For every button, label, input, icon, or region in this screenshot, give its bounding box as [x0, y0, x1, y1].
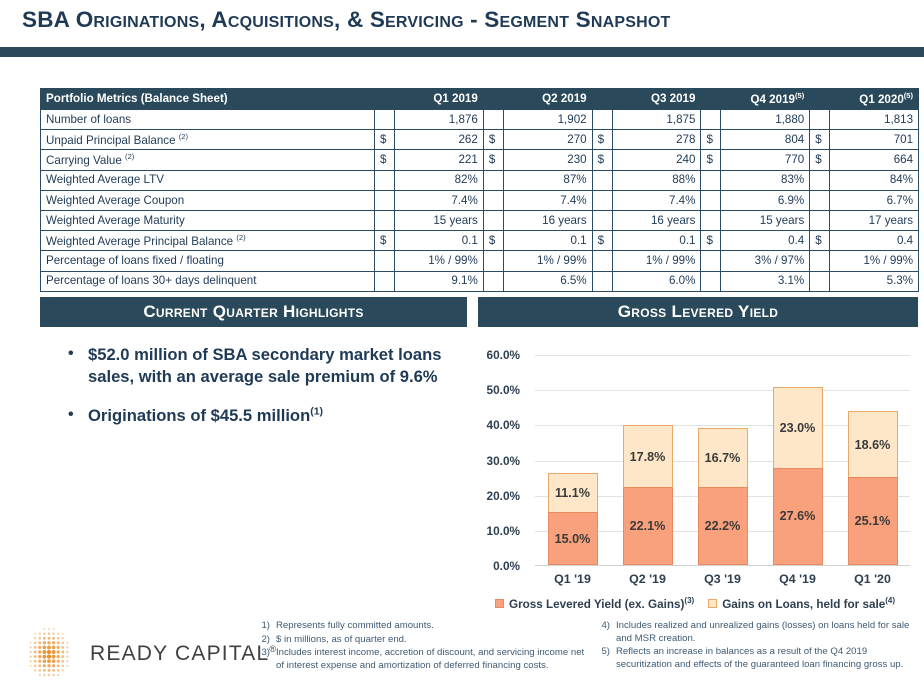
currency-symbol: $	[810, 231, 830, 251]
chart-plot-area: 0.0%10.0%20.0%30.0%40.0%50.0%60.0%15.0%1…	[535, 355, 910, 566]
footnotes-right: 4)Includes realized and unrealized gains…	[598, 620, 922, 673]
row-label: Unpaid Principal Balance (2)	[41, 130, 375, 150]
chart-bar-segment: 22.2%	[698, 487, 748, 565]
table-cell: 1,876	[395, 110, 484, 130]
table-row: Percentage of loans 30+ days delinquent9…	[41, 271, 919, 291]
currency-symbol	[375, 190, 395, 210]
table-cell: 7.4%	[503, 190, 592, 210]
chart-bar-1: 15.0%11.1%	[548, 473, 598, 565]
page-title: SBA Originations, Acquisitions, & Servic…	[22, 7, 670, 33]
currency-symbol	[810, 210, 830, 230]
chart-bar-2: 22.1%17.8%	[623, 425, 673, 565]
table-cell: 262	[395, 130, 484, 150]
footnote-2: 2)$ in millions, as of quarter end.	[258, 634, 588, 647]
currency-symbol: $	[375, 231, 395, 251]
table-cell: 82%	[395, 170, 484, 190]
ready-capital-logo: READY CAPITAL®	[18, 625, 277, 683]
chart-y-tick-label: 60.0%	[460, 348, 520, 362]
currency-symbol	[483, 251, 503, 271]
table-cell: 88%	[612, 170, 701, 190]
table-cell: 1% / 99%	[395, 251, 484, 271]
row-label: Weighted Average Maturity	[41, 210, 375, 230]
table-cell: 5.3%	[830, 271, 919, 291]
row-label: Weighted Average LTV	[41, 170, 375, 190]
chart-x-tick-label: Q1 '20	[833, 572, 913, 586]
highlight-bullet-1: $52.0 million of SBA secondary market lo…	[62, 344, 462, 388]
table-cell: 6.0%	[612, 271, 701, 291]
currency-symbol: $	[483, 130, 503, 150]
row-label: Carrying Value (2)	[41, 150, 375, 170]
table-cell: 1,880	[721, 110, 810, 130]
footnote-text: $ in millions, as of quarter end.	[276, 634, 588, 647]
currency-symbol	[701, 110, 721, 130]
currency-symbol: $	[592, 130, 612, 150]
table-row: Unpaid Principal Balance (2)$262$270$278…	[41, 130, 919, 150]
legend-label: Gross Levered Yield (ex. Gains)(3)	[509, 596, 694, 611]
chart-y-tick-label: 10.0%	[460, 524, 520, 538]
chart-legend: Gross Levered Yield (ex. Gains)(3)Gains …	[470, 596, 920, 611]
table-cell: 3% / 97%	[721, 251, 810, 271]
chart-bar-segment: 27.6%	[773, 468, 823, 565]
currency-symbol: $	[592, 231, 612, 251]
currency-symbol	[592, 251, 612, 271]
chart-y-tick-label: 50.0%	[460, 383, 520, 397]
currency-symbol	[810, 110, 830, 130]
table-row: Number of loans1,8761,9021,8751,8801,813	[41, 110, 919, 130]
chart-x-tick-label: Q4 '19	[758, 572, 838, 586]
table-cell: 1,875	[612, 110, 701, 130]
chart-bar-5: 25.1%18.6%	[848, 411, 898, 565]
footnote-1: 1)Represents fully committed amounts.	[258, 620, 588, 633]
currency-symbol	[701, 210, 721, 230]
slide: SBA Originations, Acquisitions, & Servic…	[0, 0, 924, 699]
currency-symbol	[701, 170, 721, 190]
chart-data-label: 27.6%	[780, 509, 816, 523]
chart-y-tick-label: 20.0%	[460, 489, 520, 503]
legend-swatch	[495, 599, 504, 608]
currency-symbol	[375, 110, 395, 130]
chart-data-label: 22.1%	[630, 519, 666, 533]
chart-data-label: 15.0%	[555, 532, 591, 546]
table-cell: 230	[503, 150, 592, 170]
table-cell: 0.1	[612, 231, 701, 251]
footnote-1: 4)Includes realized and unrealized gains…	[598, 620, 922, 645]
currency-symbol: $	[592, 150, 612, 170]
currency-symbol	[375, 170, 395, 190]
footnote-text: Reflects an increase in balances as a re…	[616, 646, 922, 671]
currency-symbol	[375, 210, 395, 230]
banner-gross-levered-yield: Gross Levered Yield	[478, 297, 918, 327]
table-cell: 9.1%	[395, 271, 484, 291]
table-cell: 16 years	[612, 210, 701, 230]
table-cell: 17 years	[830, 210, 919, 230]
chart-axis-baseline	[535, 565, 910, 566]
table-cell: 16 years	[503, 210, 592, 230]
table-row: Carrying Value (2)$221$230$240$770$664	[41, 150, 919, 170]
chart-bar-segment: 23.0%	[773, 387, 823, 468]
currency-symbol	[375, 271, 395, 291]
table-cell: 6.5%	[503, 271, 592, 291]
chart-bar-segment: 25.1%	[848, 477, 898, 565]
currency-symbol	[483, 210, 503, 230]
table-cell: 701	[830, 130, 919, 150]
footnote-text: Includes interest income, accretion of d…	[276, 647, 588, 672]
row-label: Weighted Average Principal Balance (2)	[41, 231, 375, 251]
currency-symbol	[483, 170, 503, 190]
highlight-bullet-2: Originations of $45.5 million(1)	[62, 405, 462, 427]
chart-y-tick-label: 0.0%	[460, 559, 520, 573]
table-cell: 15 years	[395, 210, 484, 230]
table-header-label: Portfolio Metrics (Balance Sheet)	[41, 89, 375, 110]
table-row: Weighted Average Maturity15 years16 year…	[41, 210, 919, 230]
table-cell: 6.7%	[830, 190, 919, 210]
portfolio-metrics-table-container: Portfolio Metrics (Balance Sheet)Q1 2019…	[40, 88, 918, 292]
table-cell: 664	[830, 150, 919, 170]
table-cell: 278	[612, 130, 701, 150]
logo-wordmark: READY CAPITAL	[90, 642, 269, 665]
table-cell: 1,902	[503, 110, 592, 130]
currency-symbol: $	[375, 130, 395, 150]
currency-symbol	[810, 190, 830, 210]
chart-bar-segment: 17.8%	[623, 425, 673, 488]
chart-bar-segment: 11.1%	[548, 473, 598, 512]
chart-data-label: 25.1%	[855, 514, 891, 528]
currency-symbol: $	[810, 130, 830, 150]
legend-label: Gains on Loans, held for sale(4)	[722, 596, 895, 611]
currency-symbol	[810, 251, 830, 271]
chart-bar-4: 27.6%23.0%	[773, 387, 823, 565]
table-cell: 1% / 99%	[612, 251, 701, 271]
footnote-number: 4)	[598, 620, 610, 645]
currency-symbol	[701, 251, 721, 271]
chart-gridline	[535, 355, 910, 356]
table-cell: 804	[721, 130, 810, 150]
table-cell: 87%	[503, 170, 592, 190]
currency-symbol: $	[701, 150, 721, 170]
table-cell: 84%	[830, 170, 919, 190]
table-cell: 1% / 99%	[830, 251, 919, 271]
chart-data-label: 22.2%	[705, 519, 741, 533]
currency-symbol	[592, 271, 612, 291]
chart-data-label: 17.8%	[630, 450, 666, 464]
currency-symbol	[483, 190, 503, 210]
banner-current-quarter-highlights: Current Quarter Highlights	[40, 297, 467, 327]
chart-y-tick-label: 40.0%	[460, 418, 520, 432]
chart-x-tick-label: Q1 '19	[533, 572, 613, 586]
chart-y-tick-label: 30.0%	[460, 454, 520, 468]
table-cell: 270	[503, 130, 592, 150]
logo-trademark: ®	[269, 644, 277, 654]
table-cell: 0.1	[395, 231, 484, 251]
chart-data-label: 23.0%	[780, 421, 816, 435]
table-cell: 7.4%	[395, 190, 484, 210]
table-cell: 0.4	[721, 231, 810, 251]
chart-bar-segment: 18.6%	[848, 411, 898, 476]
chart-bar-segment: 15.0%	[548, 512, 598, 565]
currency-symbol: $	[701, 130, 721, 150]
table-header-col-5: Q1 2020(5)	[810, 89, 919, 110]
currency-symbol	[592, 210, 612, 230]
chart-data-label: 16.7%	[705, 451, 741, 465]
currency-symbol	[701, 271, 721, 291]
table-header-row: Portfolio Metrics (Balance Sheet)Q1 2019…	[41, 89, 919, 110]
legend-item-2: Gains on Loans, held for sale(4)	[708, 596, 895, 611]
chart-x-tick-label: Q2 '19	[608, 572, 688, 586]
currency-symbol: $	[483, 231, 503, 251]
highlights-list: $52.0 million of SBA secondary market lo…	[62, 344, 462, 444]
footnote-text: Includes realized and unrealized gains (…	[616, 620, 922, 645]
chart-bar-segment: 22.1%	[623, 487, 673, 565]
currency-symbol: $	[810, 150, 830, 170]
table-row: Weighted Average Coupon7.4%7.4%7.4%6.9%6…	[41, 190, 919, 210]
ready-capital-mark-icon	[18, 625, 80, 683]
currency-symbol: $	[483, 150, 503, 170]
table-cell: 6.9%	[721, 190, 810, 210]
table-cell: 83%	[721, 170, 810, 190]
chart-bar-3: 22.2%16.7%	[698, 428, 748, 565]
table-header-col-4: Q4 2019(5)	[701, 89, 810, 110]
chart-x-tick-label: Q3 '19	[683, 572, 763, 586]
footnote-text: Represents fully committed amounts.	[276, 620, 588, 633]
chart-data-label: 18.6%	[855, 438, 891, 452]
table-cell: 3.1%	[721, 271, 810, 291]
table-cell: 1,813	[830, 110, 919, 130]
table-header-col-3: Q3 2019	[592, 89, 701, 110]
table-row: Weighted Average LTV82%87%88%83%84%	[41, 170, 919, 190]
currency-symbol	[483, 271, 503, 291]
chart-bar-segment: 16.7%	[698, 428, 748, 487]
table-body: Number of loans1,8761,9021,8751,8801,813…	[41, 110, 919, 292]
row-label: Percentage of loans 30+ days delinquent	[41, 271, 375, 291]
gross-levered-yield-chart: 0.0%10.0%20.0%30.0%40.0%50.0%60.0%15.0%1…	[470, 340, 920, 595]
row-label: Percentage of loans fixed / floating	[41, 251, 375, 271]
footnote-3: 3)Includes interest income, accretion of…	[258, 647, 588, 672]
table-cell: 221	[395, 150, 484, 170]
portfolio-metrics-table: Portfolio Metrics (Balance Sheet)Q1 2019…	[40, 88, 919, 292]
table-cell: 7.4%	[612, 190, 701, 210]
table-cell: 0.1	[503, 231, 592, 251]
currency-symbol	[592, 190, 612, 210]
table-cell: 240	[612, 150, 701, 170]
table-header-col-2: Q2 2019	[483, 89, 592, 110]
footnote-number: 5)	[598, 646, 610, 671]
table-cell: 0.4	[830, 231, 919, 251]
title-divider	[0, 47, 924, 57]
row-label: Number of loans	[41, 110, 375, 130]
row-label: Weighted Average Coupon	[41, 190, 375, 210]
legend-swatch	[708, 599, 717, 608]
table-header-col-1: Q1 2019	[375, 89, 484, 110]
legend-item-1: Gross Levered Yield (ex. Gains)(3)	[495, 596, 694, 611]
currency-symbol	[810, 271, 830, 291]
chart-data-label: 11.1%	[555, 486, 590, 500]
footnotes-left: 1)Represents fully committed amounts.2)$…	[258, 620, 588, 674]
currency-symbol	[701, 190, 721, 210]
currency-symbol: $	[701, 231, 721, 251]
table-cell: 1% / 99%	[503, 251, 592, 271]
currency-symbol	[810, 170, 830, 190]
footnote-2: 5)Reflects an increase in balances as a …	[598, 646, 922, 671]
table-row: Weighted Average Principal Balance (2)$0…	[41, 231, 919, 251]
currency-symbol	[375, 251, 395, 271]
table-cell: 770	[721, 150, 810, 170]
logo-text: READY CAPITAL®	[90, 642, 277, 666]
currency-symbol	[592, 170, 612, 190]
table-cell: 15 years	[721, 210, 810, 230]
currency-symbol	[483, 110, 503, 130]
table-row: Percentage of loans fixed / floating1% /…	[41, 251, 919, 271]
currency-symbol: $	[375, 150, 395, 170]
chart-gridline	[535, 390, 910, 391]
currency-symbol	[592, 110, 612, 130]
